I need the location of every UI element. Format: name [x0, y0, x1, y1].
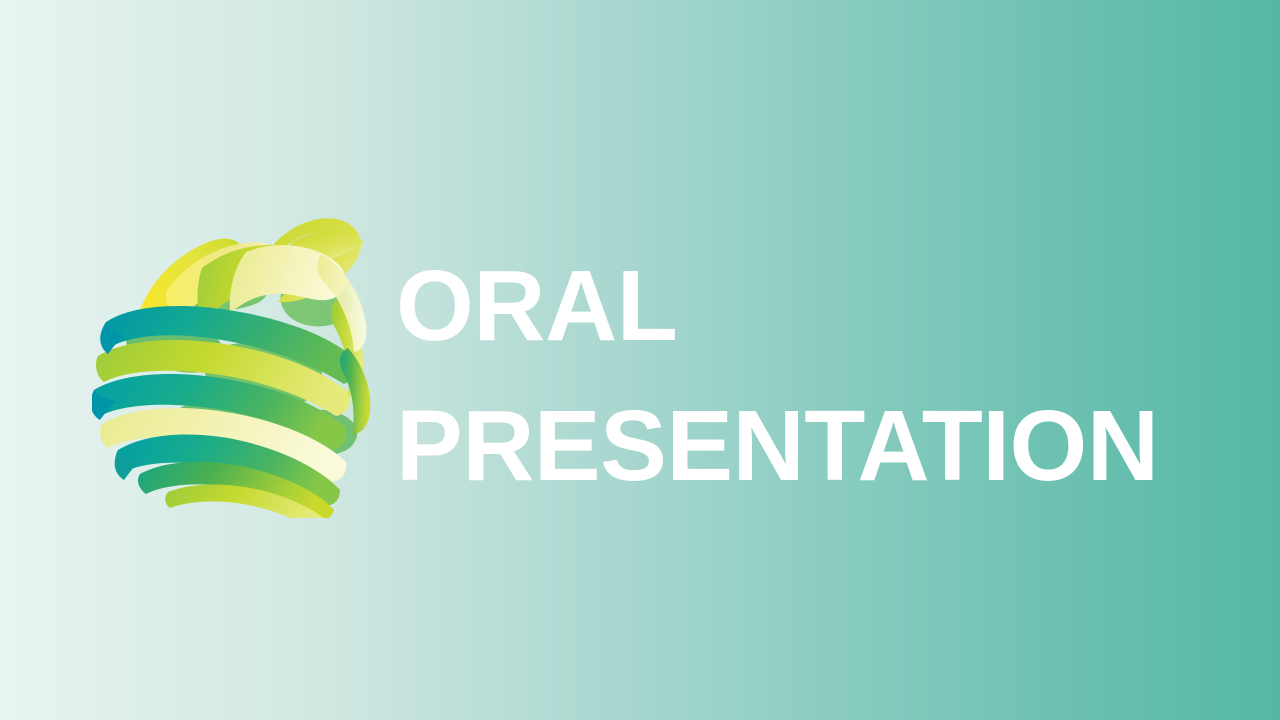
presentation-title-slide: ORAL PRESENTATION [0, 0, 1280, 720]
page-title-line-2: PRESENTATION [396, 376, 1196, 516]
spiral-globe-leaf-logo [92, 200, 384, 518]
title-block: ORAL PRESENTATION [396, 236, 1196, 516]
page-title-line-1: ORAL [396, 236, 1196, 376]
